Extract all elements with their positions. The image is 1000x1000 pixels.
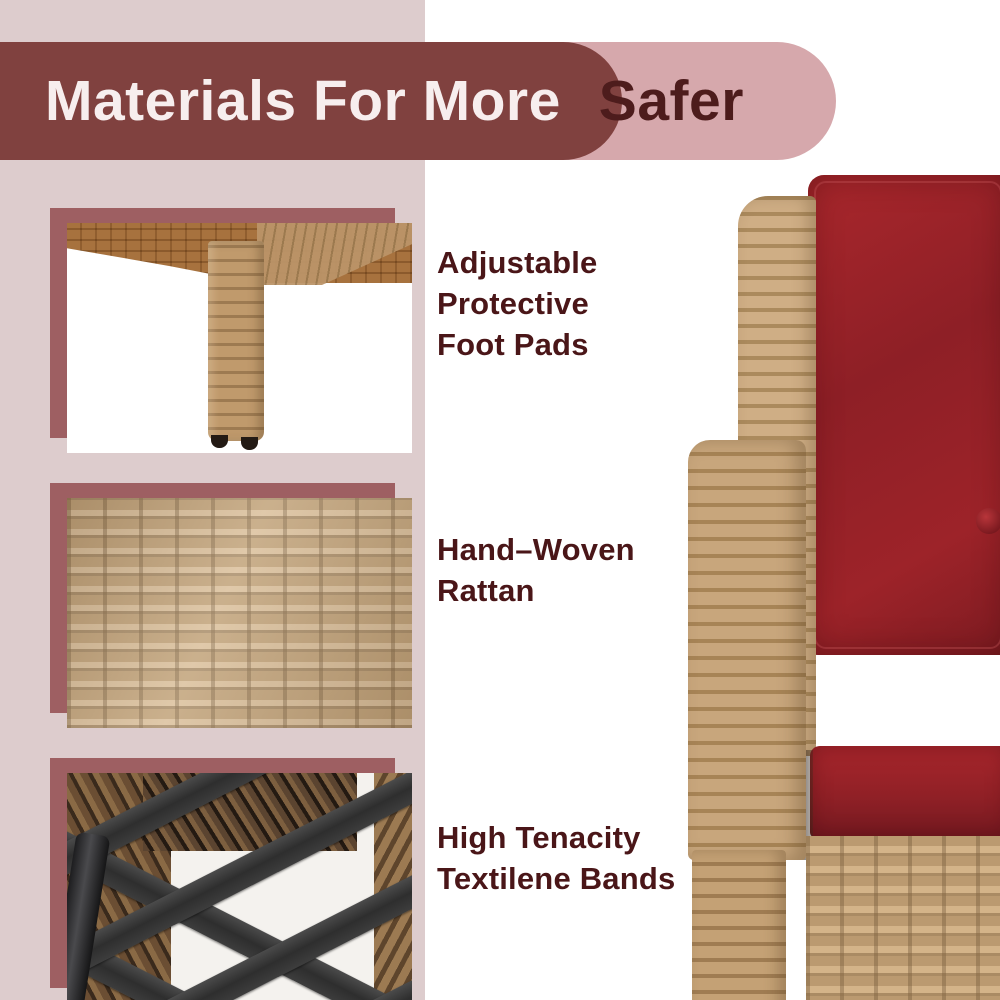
chair-base-wicker-skirt <box>806 836 1000 1000</box>
feature-rattan <box>0 475 425 725</box>
infographic-canvas: Materials For More Safer Adjustable Prot… <box>0 0 1000 1000</box>
product-photo-chair <box>660 150 1000 1000</box>
feature-label-rattan: Hand–Woven Rattan <box>437 530 635 612</box>
weave-shading <box>67 498 412 728</box>
foot-pad-left <box>211 435 228 448</box>
feature-label-textilene: High Tenacity Textilene Bands <box>437 818 675 900</box>
foot-pad-right <box>241 437 258 450</box>
banner-title: Materials For More Safer <box>45 42 744 160</box>
seat-cushion <box>810 746 1000 838</box>
label-line: Hand–Woven <box>437 530 635 571</box>
rattan-weave-illustration <box>67 498 412 728</box>
foot-pad-illustration <box>67 223 412 453</box>
page-title-accent: Safer <box>599 68 744 134</box>
label-line: Adjustable <box>437 243 597 284</box>
photo-textilene-bands <box>67 773 412 1000</box>
cushion-button-tuft <box>976 508 1000 534</box>
feature-label-foot-pads: Adjustable Protective Foot Pads <box>437 243 597 366</box>
label-line: Protective <box>437 284 597 325</box>
chair-leg <box>208 241 264 441</box>
label-line: High Tenacity <box>437 818 675 859</box>
header-banner: Materials For More Safer <box>0 42 1000 160</box>
chair-front-leg <box>692 850 786 1000</box>
photo-foot-pads <box>67 223 412 453</box>
feature-textilene <box>0 750 425 1000</box>
feature-foot-pads <box>0 200 425 450</box>
page-title: Materials For More <box>45 68 561 134</box>
back-cushion <box>808 175 1000 655</box>
photo-rattan-weave <box>67 498 412 728</box>
label-line: Textilene Bands <box>437 859 675 900</box>
label-line: Foot Pads <box>437 325 597 366</box>
label-line: Rattan <box>437 571 635 612</box>
chair-arm-wicker <box>688 440 806 860</box>
textilene-illustration <box>67 773 412 1000</box>
